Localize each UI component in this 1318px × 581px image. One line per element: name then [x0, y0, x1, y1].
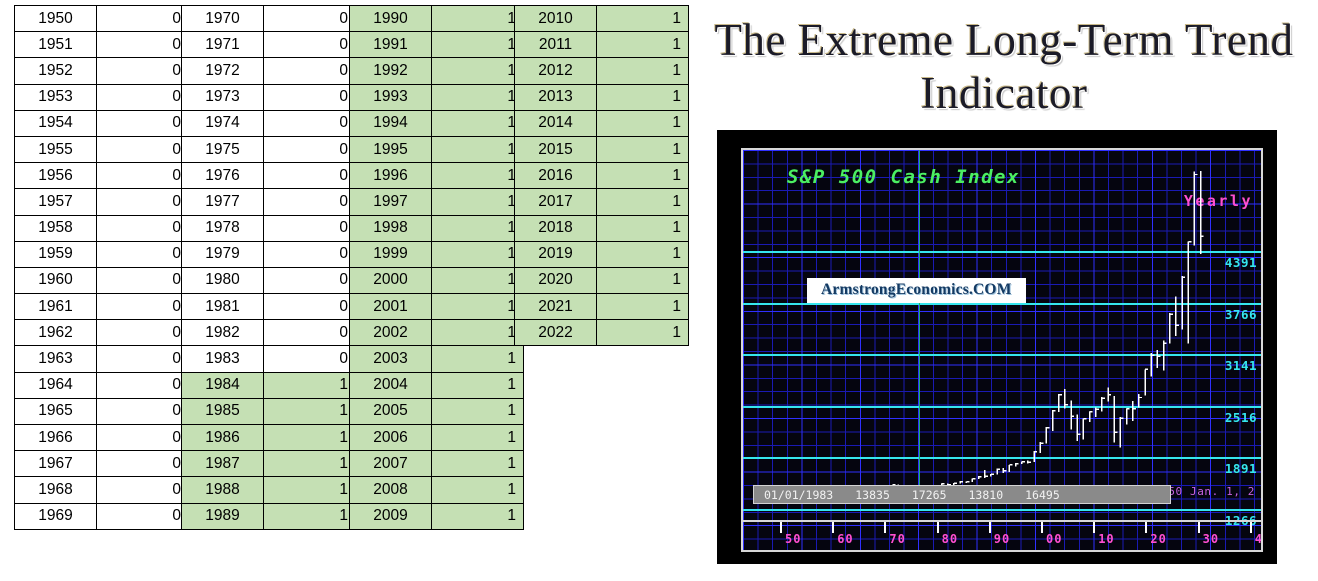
table-row[interactable]: 20051 — [350, 398, 524, 424]
cell-year[interactable]: 2010 — [515, 6, 597, 32]
status-low: 13810 — [969, 488, 1004, 502]
table-row[interactable]: 19520 — [15, 58, 189, 84]
cell-year[interactable]: 1991 — [350, 32, 432, 58]
table-row[interactable]: 19740 — [182, 110, 356, 136]
cell-year[interactable]: 1954 — [15, 110, 97, 136]
right-panel: The Extreme Long-Term Trend Indicator 43… — [690, 0, 1318, 581]
cell-indicator-value[interactable]: 0 — [264, 267, 356, 293]
table-row[interactable]: 19760 — [182, 163, 356, 189]
cell-year[interactable]: 1978 — [182, 215, 264, 241]
cell-year[interactable]: 1967 — [15, 451, 97, 477]
table-row[interactable]: 19700 — [182, 6, 356, 32]
cell-indicator-value[interactable]: 1 — [432, 451, 524, 477]
x-axis-label: 80 — [942, 532, 958, 546]
cell-indicator-value[interactable]: 0 — [97, 503, 189, 529]
cell-indicator-value[interactable]: 0 — [264, 320, 356, 346]
cell-year[interactable]: 2005 — [350, 398, 432, 424]
cell-indicator-value[interactable]: 1 — [264, 372, 356, 398]
table-row[interactable]: 20171 — [515, 189, 689, 215]
cell-year[interactable]: 2020 — [515, 267, 597, 293]
table-row[interactable]: 19891 — [182, 503, 356, 529]
table-row[interactable]: 19570 — [15, 189, 189, 215]
table-row[interactable]: 20201 — [515, 267, 689, 293]
table-row[interactable]: 20141 — [515, 110, 689, 136]
cell-year[interactable]: 2015 — [515, 136, 597, 162]
cell-year[interactable]: 2001 — [350, 294, 432, 320]
cell-year[interactable]: 1988 — [182, 477, 264, 503]
cell-indicator-value[interactable]: 1 — [597, 215, 689, 241]
cell-indicator-value[interactable]: 0 — [264, 294, 356, 320]
x-axis-label: 60 — [837, 532, 853, 546]
table-row[interactable]: 19871 — [182, 451, 356, 477]
table-row[interactable]: 19851 — [182, 398, 356, 424]
table-row[interactable]: 19770 — [182, 189, 356, 215]
table-row[interactable]: 19981 — [350, 215, 524, 241]
cell-indicator-value[interactable]: 0 — [97, 136, 189, 162]
cell-indicator-value[interactable]: 0 — [97, 84, 189, 110]
table-row[interactable]: 19830 — [182, 346, 356, 372]
table-row[interactable]: 19941 — [350, 110, 524, 136]
table-row[interactable]: 19901 — [350, 6, 524, 32]
cell-year[interactable]: 1976 — [182, 163, 264, 189]
table-row[interactable]: 19660 — [15, 425, 189, 451]
cell-indicator-value[interactable]: 1 — [597, 241, 689, 267]
cell-indicator-value[interactable]: 0 — [264, 163, 356, 189]
cell-year[interactable]: 1953 — [15, 84, 97, 110]
cell-year[interactable]: 1990 — [350, 6, 432, 32]
cell-indicator-value[interactable]: 0 — [97, 294, 189, 320]
table-row[interactable]: 20071 — [350, 451, 524, 477]
cell-year[interactable]: 1997 — [350, 189, 432, 215]
table-row[interactable]: 19961 — [350, 163, 524, 189]
table-row[interactable]: 19750 — [182, 136, 356, 162]
cell-year[interactable]: 1975 — [182, 136, 264, 162]
page-title: The Extreme Long-Term Trend Indicator — [690, 14, 1318, 120]
table-row[interactable]: 19550 — [15, 136, 189, 162]
table-row[interactable]: 19730 — [182, 84, 356, 110]
table-body-3: 1990119911199211993119941199511996119971… — [350, 6, 524, 530]
table-row[interactable]: 19640 — [15, 372, 189, 398]
cell-year[interactable]: 1968 — [15, 477, 97, 503]
table-row[interactable]: 20191 — [515, 241, 689, 267]
cell-year[interactable]: 2003 — [350, 346, 432, 372]
cell-year[interactable]: 1962 — [15, 320, 97, 346]
cell-indicator-value[interactable]: 0 — [264, 189, 356, 215]
cell-year[interactable]: 1979 — [182, 241, 264, 267]
x-axis-tick — [1041, 522, 1043, 533]
cell-indicator-value[interactable]: 0 — [264, 32, 356, 58]
cell-year[interactable]: 1985 — [182, 398, 264, 424]
x-axis-label: 30 — [1203, 532, 1219, 546]
cell-indicator-value[interactable]: 1 — [597, 267, 689, 293]
cell-indicator-value[interactable]: 1 — [597, 32, 689, 58]
cell-year[interactable]: 1965 — [15, 398, 97, 424]
cell-indicator-value[interactable]: 1 — [432, 372, 524, 398]
cell-indicator-value[interactable]: 1 — [597, 163, 689, 189]
cell-indicator-value[interactable]: 1 — [597, 320, 689, 346]
cell-indicator-value[interactable]: 1 — [597, 110, 689, 136]
cell-year[interactable]: 2014 — [515, 110, 597, 136]
cell-indicator-value[interactable]: 1 — [432, 425, 524, 451]
table-row[interactable]: 20131 — [515, 84, 689, 110]
table-row[interactable]: 19931 — [350, 84, 524, 110]
cell-year[interactable]: 1981 — [182, 294, 264, 320]
screenshot-root: 1950019510195201953019540195501956019570… — [0, 0, 1318, 581]
table-row[interactable]: 20211 — [515, 294, 689, 320]
table-row[interactable]: 20061 — [350, 425, 524, 451]
cell-year[interactable]: 2022 — [515, 320, 597, 346]
table-row[interactable]: 19810 — [182, 294, 356, 320]
cell-year[interactable]: 1970 — [182, 6, 264, 32]
table-row[interactable]: 20161 — [515, 163, 689, 189]
cell-indicator-value[interactable]: 1 — [432, 163, 524, 189]
cell-indicator-value[interactable]: 1 — [597, 136, 689, 162]
table-row[interactable]: 19971 — [350, 189, 524, 215]
cell-indicator-value[interactable]: 1 — [432, 267, 524, 293]
chart-x-axis: 50607080900010203040 — [743, 520, 1261, 550]
year-indicator-table-4: 2010120111201212013120141201512016120171… — [514, 5, 689, 346]
table-row[interactable]: 19560 — [15, 163, 189, 189]
cell-indicator-value[interactable]: 0 — [97, 6, 189, 32]
x-axis-label: 10 — [1098, 532, 1114, 546]
table-row[interactable]: 20121 — [515, 58, 689, 84]
chart-window: 4391376631412516189112666410 S&P 500 Cas… — [717, 130, 1277, 564]
table-row[interactable]: 20091 — [350, 503, 524, 529]
x-axis-tick — [989, 522, 991, 533]
table-row[interactable]: 19530 — [15, 84, 189, 110]
table-row[interactable]: 19690 — [15, 503, 189, 529]
x-axis-tick — [937, 522, 939, 533]
table-row[interactable]: 19670 — [15, 451, 189, 477]
cell-indicator-value[interactable]: 0 — [264, 84, 356, 110]
year-indicator-table-1: 1950019510195201953019540195501956019570… — [14, 5, 189, 530]
x-axis-label: 00 — [1046, 532, 1062, 546]
table-row[interactable]: 19820 — [182, 320, 356, 346]
cell-indicator-value[interactable]: 0 — [97, 346, 189, 372]
cell-year[interactable]: 1999 — [350, 241, 432, 267]
table-body-4: 2010120111201212013120141201512016120171… — [515, 6, 689, 346]
cell-indicator-value[interactable]: 1 — [264, 451, 356, 477]
table-row[interactable]: 19881 — [182, 477, 356, 503]
cell-year[interactable]: 1994 — [350, 110, 432, 136]
x-axis-label: 50 — [785, 532, 801, 546]
cell-indicator-value[interactable]: 1 — [597, 84, 689, 110]
x-axis-tick — [780, 522, 782, 533]
cell-year[interactable]: 2011 — [515, 32, 597, 58]
year-indicator-table-2: 1970019710197201973019740197501976019770… — [181, 5, 356, 530]
cell-indicator-value[interactable]: 1 — [432, 320, 524, 346]
cell-indicator-value[interactable]: 1 — [597, 294, 689, 320]
cell-year[interactable]: 1959 — [15, 241, 97, 267]
cell-indicator-value[interactable]: 1 — [597, 189, 689, 215]
x-axis-label: 70 — [889, 532, 905, 546]
year-indicator-table-3: 1990119911199211993119941199511996119971… — [349, 5, 524, 530]
cell-year[interactable]: 1987 — [182, 451, 264, 477]
cell-indicator-value[interactable]: 1 — [432, 477, 524, 503]
table-row[interactable]: 19510 — [15, 32, 189, 58]
ohlc-status-bar: 01/01/1983 13835 17265 13810 16495 — [753, 485, 1171, 504]
cell-year[interactable]: 1958 — [15, 215, 97, 241]
cell-year[interactable]: 2021 — [515, 294, 597, 320]
cell-indicator-value[interactable]: 1 — [432, 32, 524, 58]
cell-year[interactable]: 2008 — [350, 477, 432, 503]
status-date: 01/01/1983 — [764, 488, 833, 502]
cell-year[interactable]: 2019 — [515, 241, 597, 267]
cell-year[interactable]: 1950 — [15, 6, 97, 32]
x-axis-tick — [1093, 522, 1095, 533]
cell-indicator-value[interactable]: 1 — [432, 110, 524, 136]
cell-year[interactable]: 1993 — [350, 84, 432, 110]
table-row[interactable]: 19610 — [15, 294, 189, 320]
table-row[interactable]: 19991 — [350, 241, 524, 267]
table-row[interactable]: 19680 — [15, 477, 189, 503]
cell-indicator-value[interactable]: 0 — [97, 320, 189, 346]
cell-indicator-value[interactable]: 0 — [97, 425, 189, 451]
cell-year[interactable]: 1969 — [15, 503, 97, 529]
table-row[interactable]: 20041 — [350, 372, 524, 398]
cell-indicator-value[interactable]: 0 — [97, 189, 189, 215]
table-row[interactable]: 19841 — [182, 372, 356, 398]
cell-year[interactable]: 1983 — [182, 346, 264, 372]
table-body-2: 1970019710197201973019740197501976019770… — [182, 6, 356, 530]
cell-year[interactable]: 1955 — [15, 136, 97, 162]
table-row[interactable]: 19580 — [15, 215, 189, 241]
table-row[interactable]: 19600 — [15, 267, 189, 293]
cell-indicator-value[interactable]: 0 — [264, 215, 356, 241]
cell-year[interactable]: 1980 — [182, 267, 264, 293]
cell-year[interactable]: 1995 — [350, 136, 432, 162]
status-open: 13835 — [855, 488, 890, 502]
table-row[interactable]: 19720 — [182, 58, 356, 84]
cell-indicator-value[interactable]: 0 — [97, 477, 189, 503]
cell-year[interactable]: 1952 — [15, 58, 97, 84]
table-row[interactable]: 20021 — [350, 320, 524, 346]
table-row[interactable]: 20221 — [515, 320, 689, 346]
cell-year[interactable]: 2002 — [350, 320, 432, 346]
x-axis-label: 90 — [994, 532, 1010, 546]
status-close: 16495 — [1025, 488, 1060, 502]
table-row[interactable]: 20101 — [515, 6, 689, 32]
table-row[interactable]: 19800 — [182, 267, 356, 293]
cell-indicator-value[interactable]: 0 — [264, 136, 356, 162]
x-axis-tick — [884, 522, 886, 533]
cell-year[interactable]: 2018 — [515, 215, 597, 241]
table-row[interactable]: 20011 — [350, 294, 524, 320]
table-row[interactable]: 19861 — [182, 425, 356, 451]
cell-year[interactable]: 1974 — [182, 110, 264, 136]
x-axis-tick — [1145, 522, 1147, 533]
cell-year[interactable]: 2013 — [515, 84, 597, 110]
table-row[interactable]: 19540 — [15, 110, 189, 136]
cell-indicator-value[interactable]: 1 — [432, 398, 524, 424]
table-row[interactable]: 19951 — [350, 136, 524, 162]
x-axis-label: 20 — [1150, 532, 1166, 546]
cell-indicator-value[interactable]: 1 — [432, 346, 524, 372]
table-row[interactable]: 20081 — [350, 477, 524, 503]
table-row[interactable]: 19780 — [182, 215, 356, 241]
cell-year[interactable]: 2006 — [350, 425, 432, 451]
cell-year[interactable]: 1972 — [182, 58, 264, 84]
cell-year[interactable]: 1951 — [15, 32, 97, 58]
cell-year[interactable]: 1966 — [15, 425, 97, 451]
cell-indicator-value[interactable]: 0 — [97, 241, 189, 267]
cell-year[interactable]: 2009 — [350, 503, 432, 529]
cell-indicator-value[interactable]: 0 — [264, 241, 356, 267]
cell-indicator-value[interactable]: 0 — [264, 346, 356, 372]
cell-year[interactable]: 1984 — [182, 372, 264, 398]
cell-indicator-value[interactable]: 1 — [432, 136, 524, 162]
table-row[interactable]: 19630 — [15, 346, 189, 372]
cell-year[interactable]: 2017 — [515, 189, 597, 215]
table-body-1: 1950019510195201953019540195501956019570… — [15, 6, 189, 530]
cell-indicator-value[interactable]: 0 — [97, 372, 189, 398]
table-row[interactable]: 19911 — [350, 32, 524, 58]
cell-year[interactable]: 1996 — [350, 163, 432, 189]
cell-indicator-value[interactable]: 1 — [432, 241, 524, 267]
x-axis-tick — [832, 522, 834, 533]
x-axis-label: 40 — [1255, 532, 1263, 546]
table-row[interactable]: 19500 — [15, 6, 189, 32]
cell-indicator-value[interactable]: 1 — [432, 84, 524, 110]
watermark: ArmstrongEconomics.COM — [807, 278, 1026, 303]
cell-indicator-value[interactable]: 1 — [264, 503, 356, 529]
cell-year[interactable]: 1998 — [350, 215, 432, 241]
cell-year[interactable]: 1992 — [350, 58, 432, 84]
cell-indicator-value[interactable]: 1 — [597, 58, 689, 84]
cell-indicator-value[interactable]: 1 — [432, 6, 524, 32]
cell-year[interactable]: 1961 — [15, 294, 97, 320]
cell-year[interactable]: 2012 — [515, 58, 597, 84]
table-row[interactable]: 19620 — [15, 320, 189, 346]
x-axis-tick — [1250, 522, 1252, 533]
table-row[interactable]: 20111 — [515, 32, 689, 58]
cell-year[interactable]: 1956 — [15, 163, 97, 189]
table-row[interactable]: 20151 — [515, 136, 689, 162]
cell-year[interactable]: 1982 — [182, 320, 264, 346]
cell-indicator-value[interactable]: 0 — [264, 58, 356, 84]
cell-year[interactable]: 1960 — [15, 267, 97, 293]
cell-year[interactable]: 1973 — [182, 84, 264, 110]
table-row[interactable]: 19790 — [182, 241, 356, 267]
cell-indicator-value[interactable]: 0 — [97, 110, 189, 136]
cell-indicator-value[interactable]: 0 — [97, 32, 189, 58]
table-row[interactable]: 20181 — [515, 215, 689, 241]
table-row[interactable]: 19590 — [15, 241, 189, 267]
chart-frame: 4391376631412516189112666410 S&P 500 Cas… — [741, 148, 1263, 552]
cell-indicator-value[interactable]: 1 — [432, 58, 524, 84]
x-axis-tick — [1198, 522, 1200, 533]
cell-year[interactable]: 2007 — [350, 451, 432, 477]
cell-indicator-value[interactable]: 0 — [97, 163, 189, 189]
cell-year[interactable]: 2004 — [350, 372, 432, 398]
cell-year[interactable]: 1986 — [182, 425, 264, 451]
cell-indicator-value[interactable]: 1 — [432, 294, 524, 320]
cell-indicator-value[interactable]: 1 — [597, 6, 689, 32]
cell-indicator-value[interactable]: 0 — [97, 398, 189, 424]
cell-indicator-value[interactable]: 0 — [97, 58, 189, 84]
status-high: 17265 — [912, 488, 947, 502]
table-row[interactable]: 19921 — [350, 58, 524, 84]
cell-year[interactable]: 1964 — [15, 372, 97, 398]
cell-indicator-value[interactable]: 1 — [264, 425, 356, 451]
cell-year[interactable]: 2000 — [350, 267, 432, 293]
cell-indicator-value[interactable]: 0 — [97, 215, 189, 241]
cell-year[interactable]: 1977 — [182, 189, 264, 215]
cell-indicator-value[interactable]: 1 — [432, 215, 524, 241]
cell-indicator-value[interactable]: 0 — [97, 451, 189, 477]
cell-year[interactable]: 1963 — [15, 346, 97, 372]
cell-indicator-value[interactable]: 1 — [264, 477, 356, 503]
cell-indicator-value[interactable]: 1 — [432, 503, 524, 529]
table-row[interactable]: 20001 — [350, 267, 524, 293]
table-row[interactable]: 19710 — [182, 32, 356, 58]
cell-year[interactable]: 1971 — [182, 32, 264, 58]
cell-indicator-value[interactable]: 0 — [264, 6, 356, 32]
cell-indicator-value[interactable]: 0 — [97, 267, 189, 293]
table-row[interactable]: 19650 — [15, 398, 189, 424]
cell-year[interactable]: 1989 — [182, 503, 264, 529]
cell-indicator-value[interactable]: 1 — [264, 398, 356, 424]
table-row[interactable]: 20031 — [350, 346, 524, 372]
cell-year[interactable]: 2016 — [515, 163, 597, 189]
cell-indicator-value[interactable]: 0 — [264, 110, 356, 136]
cell-indicator-value[interactable]: 1 — [432, 189, 524, 215]
cell-year[interactable]: 1957 — [15, 189, 97, 215]
